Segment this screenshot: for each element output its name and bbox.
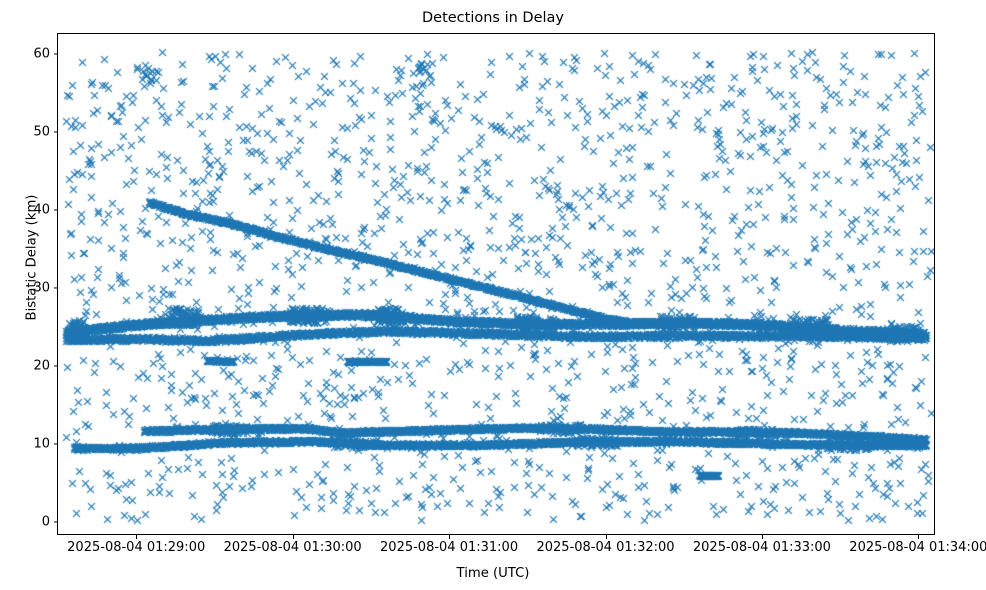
x-tick-mark [449, 535, 450, 539]
y-tick-label: 0 [6, 515, 50, 530]
y-tick-label: 10 [6, 437, 50, 452]
x-tick-mark [293, 535, 294, 539]
x-tick-label: 2025-08-04 01:32:00 [536, 540, 674, 555]
plot-area [57, 33, 935, 535]
chart-title: Detections in Delay [0, 10, 986, 27]
x-axis-label: Time (UTC) [0, 566, 986, 581]
y-axis-label: Bistatic Delay (km) [25, 108, 40, 408]
x-tick-mark [136, 535, 137, 539]
y-tick-label: 60 [6, 46, 50, 61]
x-tick-label: 2025-08-04 01:30:00 [224, 540, 362, 555]
chart-figure: Detections in Delay 0102030405060 2025-0… [0, 0, 986, 590]
x-tick-label: 2025-08-04 01:33:00 [693, 540, 831, 555]
x-tick-label: 2025-08-04 01:34:00 [849, 540, 986, 555]
x-tick-mark [762, 535, 763, 539]
x-tick-label: 2025-08-04 01:31:00 [380, 540, 518, 555]
x-tick-label: 2025-08-04 01:29:00 [67, 540, 205, 555]
x-tick-mark [918, 535, 919, 539]
scatter-plot-canvas [58, 34, 934, 534]
x-tick-mark [606, 535, 607, 539]
